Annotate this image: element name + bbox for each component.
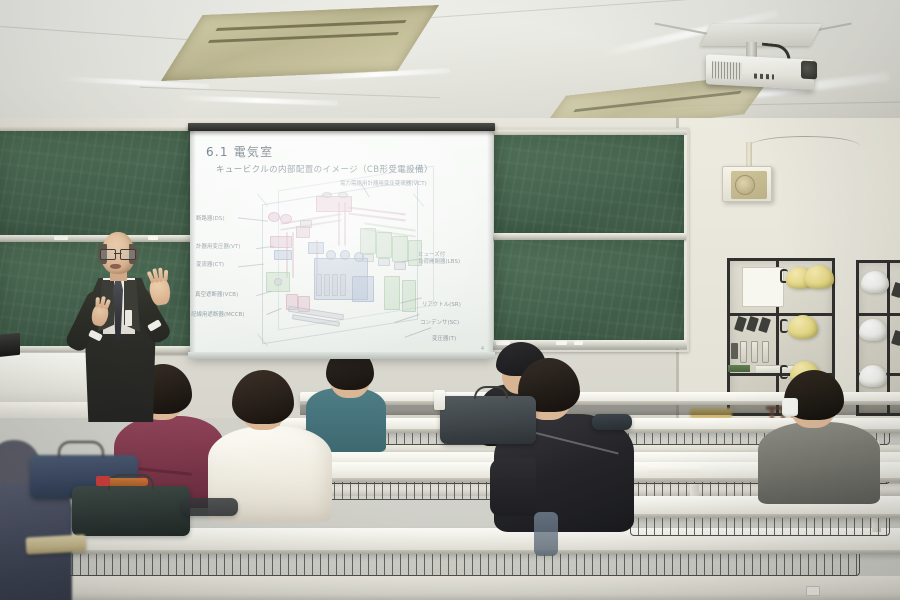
ceiling-vent: [161, 5, 439, 81]
jacket-sleeve-accent: [534, 512, 558, 556]
safety-helmet: [861, 271, 889, 293]
slide-label-vcb: 真空遮断器(VCB): [195, 290, 238, 298]
backpack-right-gray: [440, 396, 536, 444]
projector-mount-plate: [700, 24, 822, 46]
helmet-hook: [780, 365, 788, 379]
projector-lens: [801, 61, 817, 80]
rack-tool: [734, 316, 747, 332]
slide-label-t: 変圧器(T): [432, 334, 456, 342]
slide-label-ds: 断路器(DS): [196, 214, 225, 222]
safety-helmet: [804, 265, 834, 289]
desk-wire-bag-rack: [630, 518, 890, 536]
paper-on-desk: [648, 466, 700, 473]
screen-housing: [188, 123, 495, 131]
speaker-cone: [735, 175, 755, 195]
chalkboard-left-upper: [0, 131, 194, 235]
slide-label-mccb: 配線用遮断器(MCCB): [191, 310, 245, 318]
bag-handle: [474, 386, 508, 399]
student-arm: [490, 458, 536, 516]
rack-instruction-sheet: [742, 267, 784, 307]
ceiling: [0, 0, 900, 132]
lecture-hall-screenshot: 6.1 電気室 キュービクルの内部配置のイメージ（CB形受電設備）: [0, 0, 900, 600]
rack-tool: [746, 316, 759, 332]
slide-title: 6.1 電気室: [206, 143, 273, 160]
slide-label-ct: 変流器(CT): [196, 260, 224, 268]
projector-control-buttons: [754, 73, 774, 79]
lecturer-name-badge: [125, 310, 132, 326]
desk-wire-bag-rack-front: [40, 554, 860, 576]
slide-label-vct: 電力需給用計器用変圧変流器(VCT): [340, 179, 427, 187]
ceiling-light-panel-2: [178, 95, 338, 106]
desk-row-1-skirt: [0, 576, 900, 600]
white-cup-on-desk: [434, 390, 445, 410]
screen-bottom-weight-bar: [188, 352, 495, 359]
backpack-dark-left: [72, 486, 190, 536]
pencil-case: [26, 534, 87, 554]
slide-label-lbs: ヒューズ付 負荷開閉器(LBS): [418, 252, 460, 267]
wall-speaker: [722, 166, 772, 202]
rack-tool: [758, 317, 771, 333]
rack-bottle: [740, 341, 747, 363]
slide-content: 6.1 電気室 キュービクルの内部配置のイメージ（CB形受電設備）: [190, 130, 493, 358]
speaker-mount-bracket: [746, 142, 752, 168]
bag-under-desk: [182, 498, 238, 516]
rack-tool: [891, 330, 900, 346]
ceiling-projector: [688, 24, 838, 104]
lecturer-mouth: [110, 264, 121, 269]
projection-screen: 6.1 電気室 キュービクルの内部配置のイメージ（CB形受電設備）: [190, 130, 493, 358]
chalkboard-right-frame: [489, 128, 689, 352]
slide-label-sr: リアクトル(SR): [422, 300, 461, 308]
power-outlet: [806, 586, 820, 596]
speaker-face: [731, 171, 767, 199]
bag-handle: [58, 441, 104, 457]
lecturer-eyeglasses: [100, 249, 136, 258]
safety-helmet: [859, 319, 887, 341]
chalk-piece: [54, 236, 68, 240]
bag-red-tag: [96, 476, 110, 486]
slide-label-vt: 計器用変圧器(VT): [196, 242, 241, 250]
slide-label-sc: コンデンサ(SC): [420, 318, 459, 326]
cubicle-isometric-diagram: [252, 184, 432, 344]
lecturer: [70, 232, 186, 422]
rack-bottle: [762, 341, 769, 363]
face-mask: [782, 398, 798, 416]
safety-helmet: [859, 365, 887, 387]
rack-meter-box: [731, 343, 738, 359]
bag-on-desk-back: [592, 414, 632, 430]
student-torso: [758, 422, 880, 504]
bag-orange-strap: [108, 478, 148, 486]
rack-bottle: [751, 341, 758, 363]
projector-vent-grille: [712, 61, 742, 80]
helmet-hook: [780, 319, 788, 333]
podium-monitor: [0, 333, 20, 358]
safety-helmet: [788, 315, 818, 339]
rack-green-box: [728, 365, 750, 372]
rack-tool: [891, 282, 900, 298]
